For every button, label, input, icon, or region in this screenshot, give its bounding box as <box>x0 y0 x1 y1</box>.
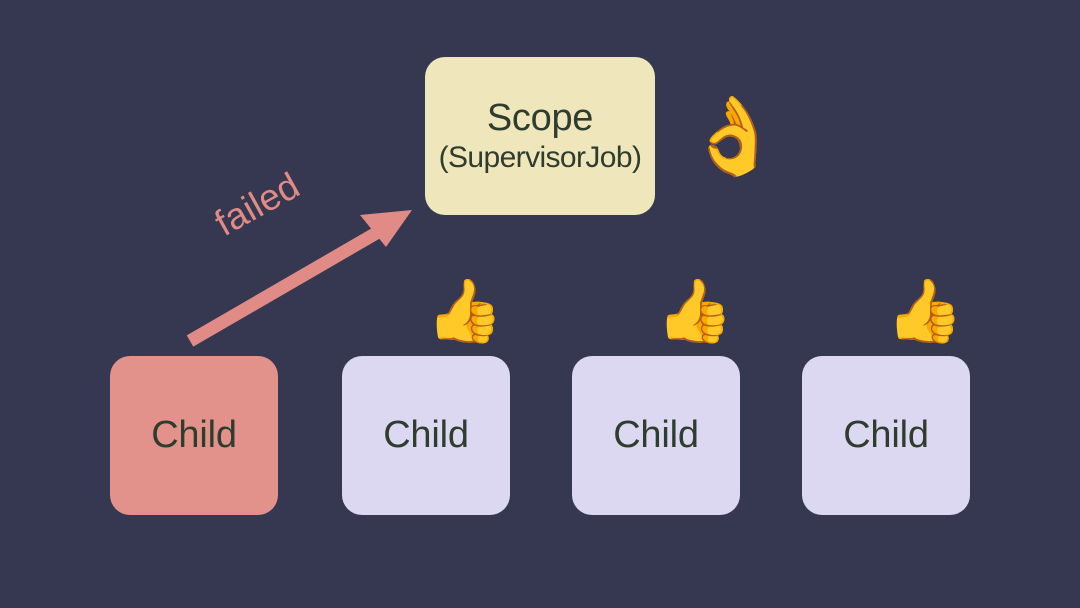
ok-hand-icon: 👌 <box>686 98 781 174</box>
child-node-4-label: Child <box>843 414 929 457</box>
child-node-1[interactable]: Child <box>110 356 278 515</box>
arrow-shaft <box>190 224 392 341</box>
child-node-3[interactable]: Child <box>572 356 740 515</box>
thumbs-up-icon-4: 👍 <box>886 280 963 342</box>
child-node-4[interactable]: Child <box>802 356 970 515</box>
scope-node-subtitle: (SupervisorJob) <box>439 141 642 175</box>
child-node-2-label: Child <box>383 414 469 457</box>
child-node-2[interactable]: Child <box>342 356 510 515</box>
child-node-1-label: Child <box>151 414 237 457</box>
child-node-3-label: Child <box>613 414 699 457</box>
thumbs-up-icon-2: 👍 <box>426 280 503 342</box>
arrow-head <box>360 210 412 247</box>
edge-label-failed: failed <box>208 165 307 245</box>
scope-node-title: Scope <box>487 97 593 140</box>
diagram-canvas: failed Scope (SupervisorJob) 👌 Child Chi… <box>0 0 1080 608</box>
scope-node[interactable]: Scope (SupervisorJob) <box>425 57 655 215</box>
thumbs-up-icon-3: 👍 <box>656 280 733 342</box>
